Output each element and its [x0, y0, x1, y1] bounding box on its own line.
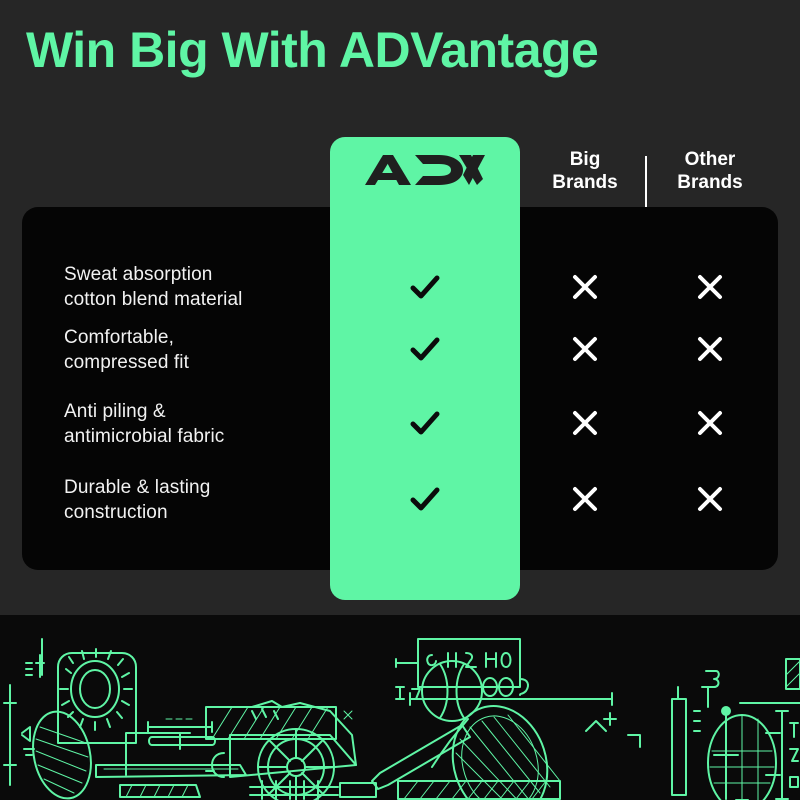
column-header-big-brands-line2: Brands [520, 171, 650, 194]
cross-icon [688, 477, 732, 521]
feature-label-1: Comfortable, compressed fit [64, 325, 320, 376]
feature-label-2-line2: antimicrobial fabric [64, 424, 320, 449]
page-title: Win Big With ADVantage [26, 22, 786, 78]
cross-icon [563, 477, 607, 521]
checkmark-icon [403, 401, 447, 445]
column-header-other-brands-line1: Other [645, 148, 775, 171]
promo-comparison-graphic: Win Big With ADVantage Big Brands Other … [0, 0, 800, 800]
adv-logo-icon [330, 151, 520, 191]
sports-equipment-blueprint-illustration [0, 615, 800, 800]
feature-label-0-line2: cotton blend material [64, 287, 320, 312]
cross-icon [688, 327, 732, 371]
column-header-other-brands: Other Brands [645, 148, 775, 194]
checkmark-icon [403, 327, 447, 371]
column-header-big-brands-line1: Big [520, 148, 650, 171]
feature-label-3-line2: construction [64, 500, 320, 525]
feature-label-3: Durable & lasting construction [64, 475, 320, 526]
checkmark-icon [403, 265, 447, 309]
feature-label-2: Anti piling & antimicrobial fabric [64, 399, 320, 450]
feature-label-2-line1: Anti piling & [64, 399, 320, 424]
checkmark-icon [403, 477, 447, 521]
feature-label-0: Sweat absorption cotton blend material [64, 262, 320, 313]
column-header-other-brands-line2: Brands [645, 171, 775, 194]
cross-icon [563, 401, 607, 445]
cross-icon [563, 327, 607, 371]
cross-icon [688, 401, 732, 445]
feature-label-3-line1: Durable & lasting [64, 475, 320, 500]
cross-icon [688, 265, 732, 309]
cross-icon [563, 265, 607, 309]
feature-label-1-line1: Comfortable, [64, 325, 320, 350]
column-header-big-brands: Big Brands [520, 148, 650, 194]
feature-label-0-line1: Sweat absorption [64, 262, 320, 287]
feature-label-1-line2: compressed fit [64, 350, 320, 375]
